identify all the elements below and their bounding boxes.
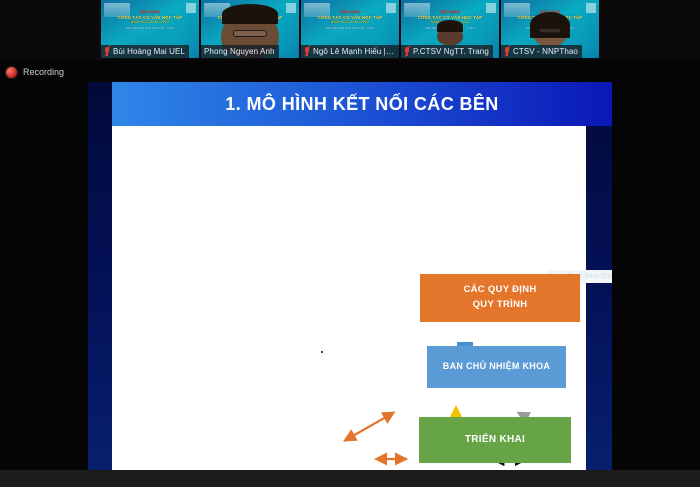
- mic-muted-icon: [304, 47, 310, 56]
- participant-tile-2[interactable]: HỘI NGHỊ CÔNG TÁC CỐ VẤN HỌC TẬP NĂM HỌC…: [301, 0, 399, 58]
- node-regulations-line2: QUY TRÌNH: [473, 298, 528, 313]
- bottom-toolbar: [0, 470, 700, 487]
- participant-tile-4[interactable]: HỘI NGHỊ CÔNG TÁC CỐ VẤN HỌC TẬP NĂM HỌC…: [501, 0, 599, 58]
- participant-hair-4: [530, 12, 570, 38]
- recording-indicator[interactable]: Recording: [6, 64, 64, 80]
- participant-tile-1[interactable]: HỘI NGHỊ CÔNG TÁC CỐ VẤN HỌC TẬP NĂM HỌC…: [201, 0, 299, 58]
- slide-left-band: [88, 82, 112, 470]
- participant-hair-1: [222, 4, 278, 24]
- participant-tile-0[interactable]: HỘI NGHỊ CÔNG TÁC CỐ VẤN HỌC TẬP NĂM HỌC…: [101, 0, 199, 58]
- glasses-icon: [233, 30, 267, 37]
- connection-model-diagram: CÁC QUY ĐỊNH QUY TRÌNH BAN CHỦ NHIỆM KHO…: [126, 128, 586, 470]
- mic-muted-icon: [404, 47, 410, 56]
- virtual-background-text-2: HỘI NGHỊ CÔNG TÁC CỐ VẤN HỌC TẬP NĂM HỌC…: [301, 9, 399, 31]
- participant-name-4: CTSV - NNPThao: [513, 47, 578, 56]
- edge-implement-partner: [344, 417, 386, 441]
- virtual-background-text-0: HỘI NGHỊ CÔNG TÁC CỐ VẤN HỌC TẬP NĂM HỌC…: [101, 9, 199, 31]
- participant-namebar-3: P.CTSV NgTT. Trang: [401, 45, 493, 58]
- glasses-icon: [539, 28, 561, 33]
- participant-namebar-0: Bùi Hoàng Mai UEL: [101, 45, 189, 58]
- participant-tile-3[interactable]: HỘI NGHỊ CÔNG TÁC CỐ VẤN HỌC TẬP NĂM HỌC…: [401, 0, 499, 58]
- participant-name-3: P.CTSV NgTT. Trang: [413, 47, 489, 56]
- participant-name-1: Phong Nguyen Anh: [204, 47, 275, 56]
- participant-name-2: Ngô Lê Mạnh Hiếu | O..: [313, 47, 395, 56]
- node-regulations-line1: CÁC QUY ĐỊNH: [463, 283, 536, 298]
- mic-muted-icon: [504, 47, 510, 56]
- page-title: 1. MÔ HÌNH KẾT NỐI CÁC BÊN: [225, 94, 498, 115]
- participant-hair-3: [437, 20, 463, 32]
- participant-name-0: Bùi Hoàng Mai UEL: [113, 47, 185, 56]
- mic-muted-icon: [104, 47, 110, 56]
- node-dean-board[interactable]: BAN CHỦ NHIỆM KHOA: [427, 346, 566, 388]
- participant-namebar-1: Phong Nguyen Anh: [201, 45, 279, 58]
- recording-label: Recording: [23, 67, 64, 77]
- shared-screen-slide[interactable]: 1. MÔ HÌNH KẾT NỐI CÁC BÊN Free-form Sna: [88, 82, 612, 470]
- record-dot-icon: [6, 67, 17, 78]
- node-dean-line1: BAN CHỦ NHIỆM KHOA: [443, 360, 550, 374]
- node-implementation-line1: TRIỂN KHAI: [465, 432, 525, 448]
- participant-namebar-2: Ngô Lê Mạnh Hiếu | O..: [301, 45, 399, 58]
- slide-content-area: Free-form Sna: [126, 128, 586, 470]
- slide-title-bar: 1. MÔ HÌNH KẾT NỐI CÁC BÊN: [112, 82, 612, 126]
- node-regulations[interactable]: CÁC QUY ĐỊNH QUY TRÌNH: [420, 274, 580, 322]
- participant-filmstrip: HỘI NGHỊ CÔNG TÁC CỐ VẤN HỌC TẬP NĂM HỌC…: [0, 0, 700, 60]
- stray-dot-mark: [321, 351, 323, 353]
- participant-namebar-4: CTSV - NNPThao: [501, 45, 582, 58]
- node-implementation[interactable]: TRIỂN KHAI: [419, 417, 571, 463]
